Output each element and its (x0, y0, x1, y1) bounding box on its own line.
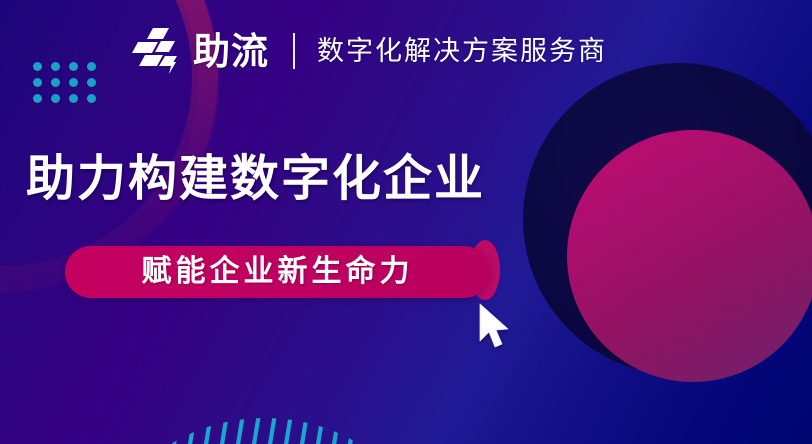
grid-dot (51, 78, 60, 87)
hero-headline: 助力构建数字化企业 (26, 152, 485, 207)
hero-cta-pill-label: 赋能企业新生命力 (142, 257, 414, 287)
grid-dot (87, 78, 96, 87)
grid-dot (51, 62, 60, 71)
magenta-gradient-circle-icon (567, 130, 812, 382)
brand-header: 助流 数字化解决方案服务商 (131, 22, 607, 80)
mouse-cursor-icon (478, 303, 512, 353)
brand-name: 助流 (193, 33, 269, 70)
cyan-dot-grid-icon (33, 62, 105, 110)
grid-dot (33, 94, 42, 103)
brand-tagline: 数字化解决方案服务商 (317, 38, 607, 65)
grid-dot (87, 94, 96, 103)
hero-cta-pill[interactable]: 赋能企业新生命力 (65, 246, 490, 298)
grid-dot (69, 62, 78, 71)
grid-dot (69, 94, 78, 103)
grid-dot (51, 94, 60, 103)
zhuliu-flow-logo-icon (131, 26, 181, 76)
header-divider (293, 33, 295, 69)
promo-banner: 助流 数字化解决方案服务商 助力构建数字化企业 赋能企业新生命力 (0, 0, 812, 444)
grid-dot (33, 78, 42, 87)
cyan-stripe-fan-icon (120, 346, 410, 444)
grid-dot (69, 78, 78, 87)
grid-dot (33, 62, 42, 71)
grid-dot (87, 62, 96, 71)
